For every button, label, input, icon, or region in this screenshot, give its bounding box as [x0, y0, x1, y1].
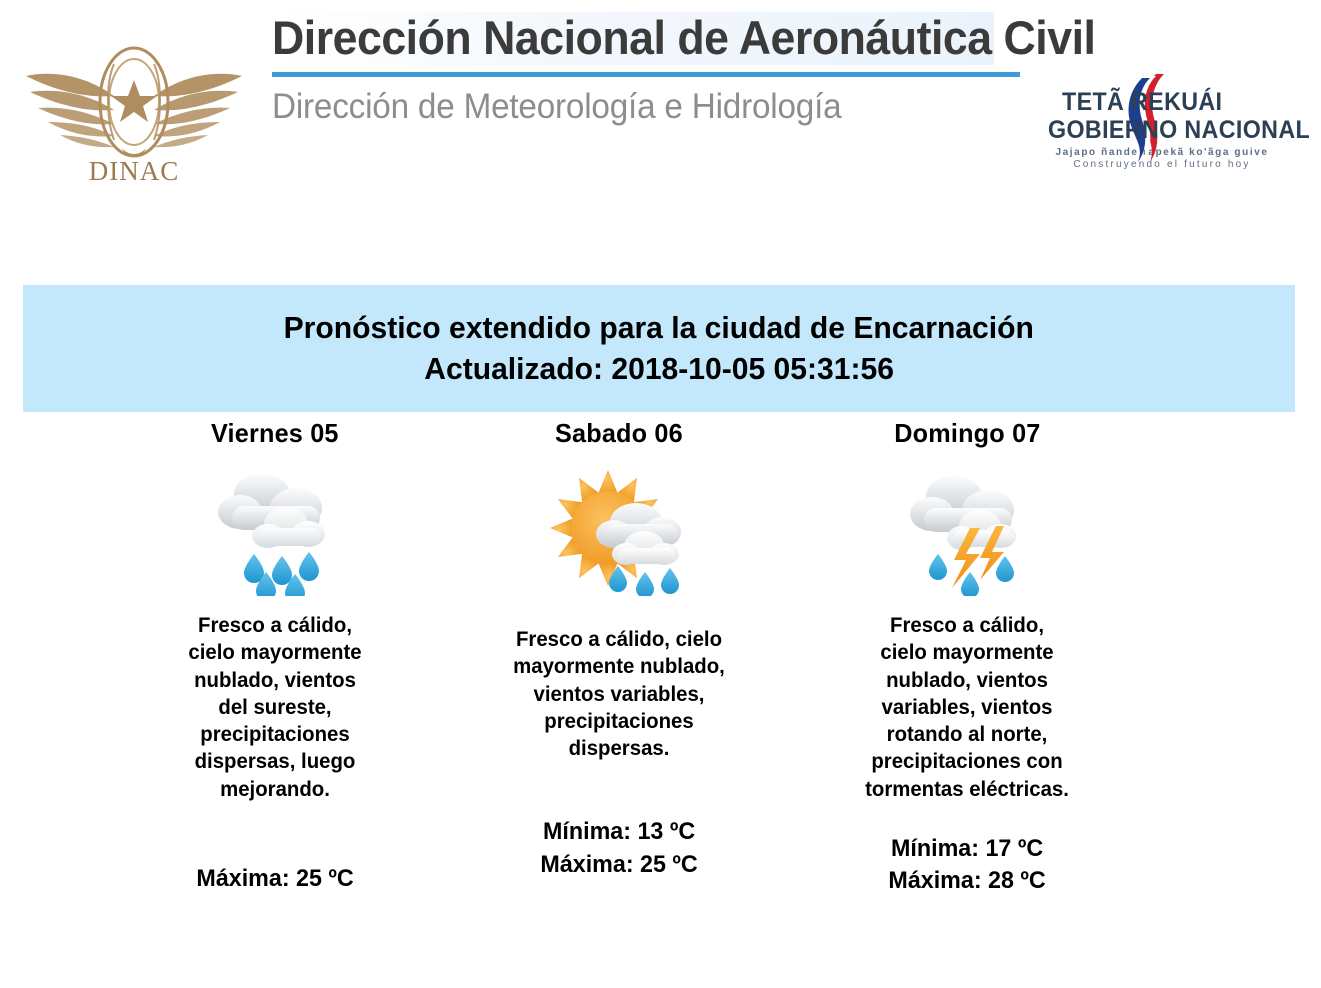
- government-logo: TETÃ REKUÁI GOBIERNO NACIONAL Jajapo ñan…: [1048, 88, 1296, 193]
- max-temp-viernes: Máxima: 25 ºC: [196, 863, 353, 895]
- page-header: DINAC Dirección Nacional de Aeronáutica …: [0, 0, 1321, 215]
- organization-titles: Dirección Nacional de Aeronáutica Civil …: [272, 12, 1032, 127]
- org-subtitle: Dirección de Meteorología e Hidrología: [272, 87, 994, 127]
- day-temperatures-domingo: Mínima: 17 ºC Máxima: 28 ºC: [888, 833, 1045, 897]
- day-description-sabado: Fresco a cálido, cielo mayormente nublad…: [511, 626, 726, 762]
- org-title: Dirección Nacional de Aeronáutica Civil: [272, 12, 994, 65]
- forecast-day-column: Viernes 05: [105, 418, 445, 897]
- dinac-acronym-label: DINAC: [14, 156, 254, 187]
- forecast-updated-timestamp: Actualizado: 2018-10-05 05:31:56: [424, 349, 894, 390]
- max-temp-domingo: Máxima: 28 ºC: [888, 865, 1045, 897]
- forecast-columns: Viernes 05: [23, 418, 1295, 897]
- cloudy-rain-icon: [210, 462, 340, 602]
- forecast-title-banner: Pronóstico extendido para la ciudad de E…: [23, 285, 1295, 412]
- dinac-logo: DINAC: [14, 14, 254, 194]
- day-temperatures-viernes: Máxima: 25 ºC: [196, 863, 353, 895]
- gov-logo-line1: TETÃ REKUÁI: [1062, 88, 1280, 117]
- thunderstorm-icon: [900, 462, 1035, 602]
- forecast-day-column: Sabado 06: [449, 418, 789, 897]
- day-description-domingo: Fresco a cálido, cielo mayormente nublad…: [864, 612, 1070, 803]
- max-temp-sabado: Máxima: 25 ºC: [540, 849, 697, 881]
- min-temp-sabado: Mínima: 13 ºC: [540, 816, 697, 848]
- forecast-day-column: Domingo 07: [797, 418, 1137, 897]
- day-temperatures-sabado: Mínima: 13 ºC Máxima: 25 ºC: [540, 816, 697, 880]
- min-temp-domingo: Mínima: 17 ºC: [888, 833, 1045, 865]
- header-divider: [272, 72, 1020, 77]
- gov-logo-line2: GOBIERNO NACIONAL: [1048, 116, 1279, 145]
- day-label-sabado: Sabado 06: [555, 418, 683, 452]
- day-label-viernes: Viernes 05: [211, 418, 339, 452]
- day-label-domingo: Domingo 07: [894, 418, 1040, 452]
- day-description-viernes: Fresco a cálido, cielo mayormente nublad…: [182, 612, 368, 803]
- sun-cloud-rain-icon: [544, 462, 694, 602]
- forecast-title: Pronóstico extendido para la ciudad de E…: [284, 308, 1034, 349]
